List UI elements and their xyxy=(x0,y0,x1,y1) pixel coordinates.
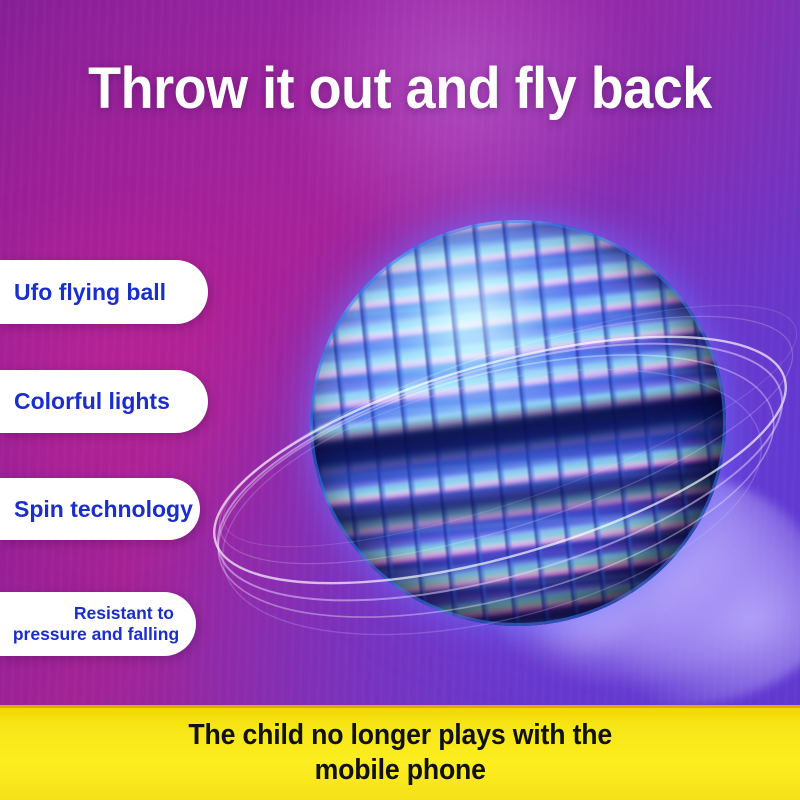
feature-pill-spin-technology[interactable]: Spin technology xyxy=(0,478,200,540)
feature-pill-colorful-lights[interactable]: Colorful lights xyxy=(0,370,208,433)
product-advertisement-poster: Throw it out and fly back Ufo flying bal… xyxy=(0,0,800,800)
bottom-banner: The child no longer plays with the mobil… xyxy=(0,705,800,800)
bottom-banner-line-2: mobile phone xyxy=(314,754,485,786)
orb-rim-shading xyxy=(310,220,726,626)
bottom-banner-line-1: The child no longer plays with the xyxy=(188,719,612,751)
feature-pill-label-multiline: Resistant to pressure and falling xyxy=(0,603,196,644)
bottom-banner-text: The child no longer plays with the mobil… xyxy=(188,718,612,786)
feature-pill-resistant-to-pressure-and-falling[interactable]: Resistant to pressure and falling xyxy=(0,592,196,656)
feature-pill-label: Colorful lights xyxy=(0,388,208,415)
feature-pill-ufo-flying-ball[interactable]: Ufo flying ball xyxy=(0,260,208,324)
feature-pill-label-line-1: Resistant to xyxy=(6,603,186,624)
headline: Throw it out and fly back xyxy=(28,60,772,118)
feature-pill-label: Spin technology xyxy=(0,496,200,523)
feature-pill-label-line-2: pressure and falling xyxy=(6,624,186,645)
ufo-flying-ball-product xyxy=(310,220,726,626)
feature-pill-label: Ufo flying ball xyxy=(0,279,208,306)
